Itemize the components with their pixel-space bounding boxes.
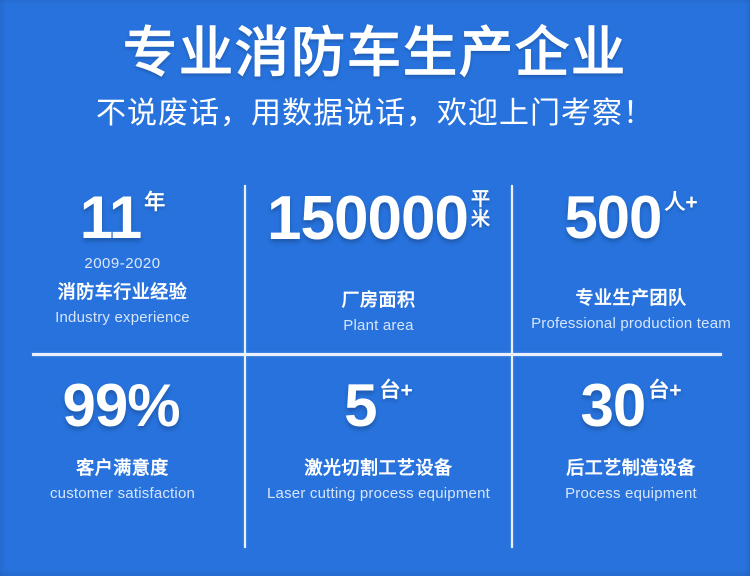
stat-label-en: Process equipment [565,485,697,502]
promo-banner: 专业消防车生产企业 不说废话，用数据说话，欢迎上门考察！ 11 年 2009-2… [0,0,750,576]
banner-header: 专业消防车生产企业 不说废话，用数据说话，欢迎上门考察！ [0,0,750,130]
stat-cell-industry-experience: 11 年 2009-2020 消防车行业经验 Industry experien… [0,180,245,354]
stat-number: 30 [580,376,645,436]
stat-label-cn: 后工艺制造设备 [566,454,696,480]
stat-value-group: 150000 平 米 [267,188,490,250]
stat-value-group: 11 年 [80,188,165,248]
stats-grid: 11 年 2009-2020 消防车行业经验 Industry experien… [0,180,750,552]
stat-unit: 台+ [380,380,413,401]
stat-label-en: Industry experience [55,309,190,326]
page-subtitle: 不说废话，用数据说话，欢迎上门考察！ [0,81,750,130]
stat-label-cn: 专业生产团队 [576,284,687,310]
stat-unit: 台+ [648,380,681,401]
stat-value-group: 500 人+ [564,188,697,248]
page-title: 专业消防车生产企业 [0,0,750,81]
stat-unit: 年 [144,192,165,213]
stat-value-group: 99% [62,376,182,436]
stat-cell-laser-cutting-equipment: 5 台+ 激光切割工艺设备 Laser cutting process equi… [245,354,512,552]
stat-label-cn: 客户满意度 [76,454,169,480]
stat-unit-top: 平 [471,190,490,210]
stat-number: 11 [80,188,141,248]
stat-unit: 平 米 [471,190,490,230]
stat-label-cn: 消防车行业经验 [58,278,188,304]
stat-number: 5 [344,376,376,436]
stat-cell-customer-satisfaction: 99% 客户满意度 customer satisfaction [0,354,245,552]
stat-label-en: Professional production team [531,315,731,332]
stat-number: 150000 [267,188,468,250]
stat-label-en: Laser cutting process equipment [267,485,490,502]
stat-label-en: customer satisfaction [50,485,195,502]
stat-label-en: Plant area [343,317,413,334]
stat-cell-production-team: 500 人+ 专业生产团队 Professional production te… [512,180,750,354]
stat-cell-plant-area: 150000 平 米 厂房面积 Plant area [245,180,512,354]
stat-cell-process-equipment: 30 台+ 后工艺制造设备 Process equipment [512,354,750,552]
stat-range: 2009-2020 [84,255,160,272]
stat-label-cn: 激光切割工艺设备 [305,454,453,480]
stat-value-group: 5 台+ [344,376,413,436]
stat-value-group: 30 台+ [580,376,681,436]
stat-label-cn: 厂房面积 [342,286,416,312]
stat-number: 99% [62,376,179,436]
stat-number: 500 [564,188,661,248]
stat-unit: 人+ [664,192,697,213]
stat-unit-bottom: 米 [471,210,490,230]
